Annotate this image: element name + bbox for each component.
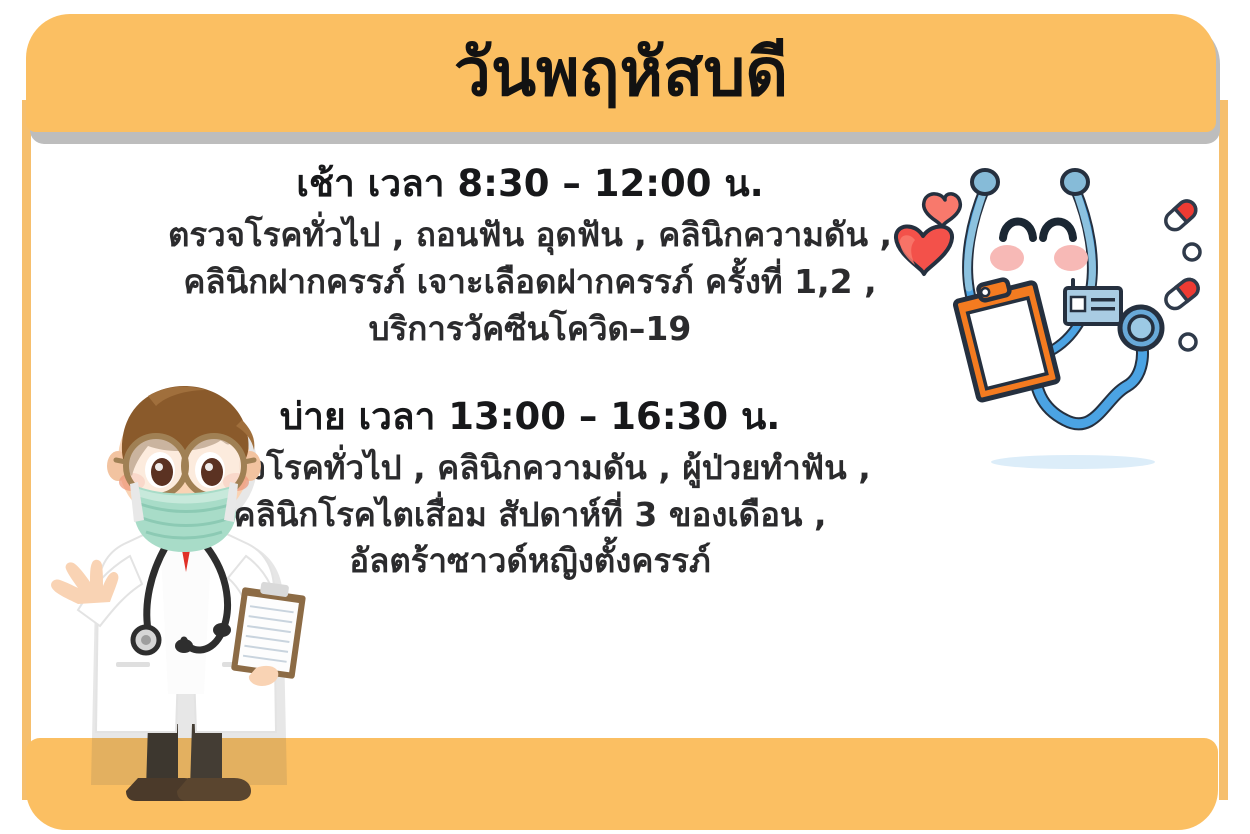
doctor-character-icon <box>38 378 338 806</box>
page-title: วันพฤหัสบดี <box>454 40 788 106</box>
session-morning-time: เช้า เวลา 8:30 – 12:00 น. <box>90 160 970 208</box>
card-left-border <box>22 100 31 800</box>
session-morning-service-3: บริการวัคซีนโควิด–19 <box>90 306 970 353</box>
header-banner: วันพฤหัสบดี <box>26 14 1216 132</box>
session-morning-service-1: ตรวจโรคทั่วไป , ถอนฟัน อุดฟัน , คลินิกคว… <box>90 212 970 259</box>
pills-icon <box>1158 190 1228 360</box>
poster-card: วันพฤหัสบดี <box>0 0 1250 834</box>
session-morning: เช้า เวลา 8:30 – 12:00 น. ตรวจโรคทั่วไป … <box>90 160 970 353</box>
session-morning-service-2: คลินิกฝากครรภ์ เจาะเลือดฝากครรภ์ ครั้งที… <box>90 259 970 306</box>
